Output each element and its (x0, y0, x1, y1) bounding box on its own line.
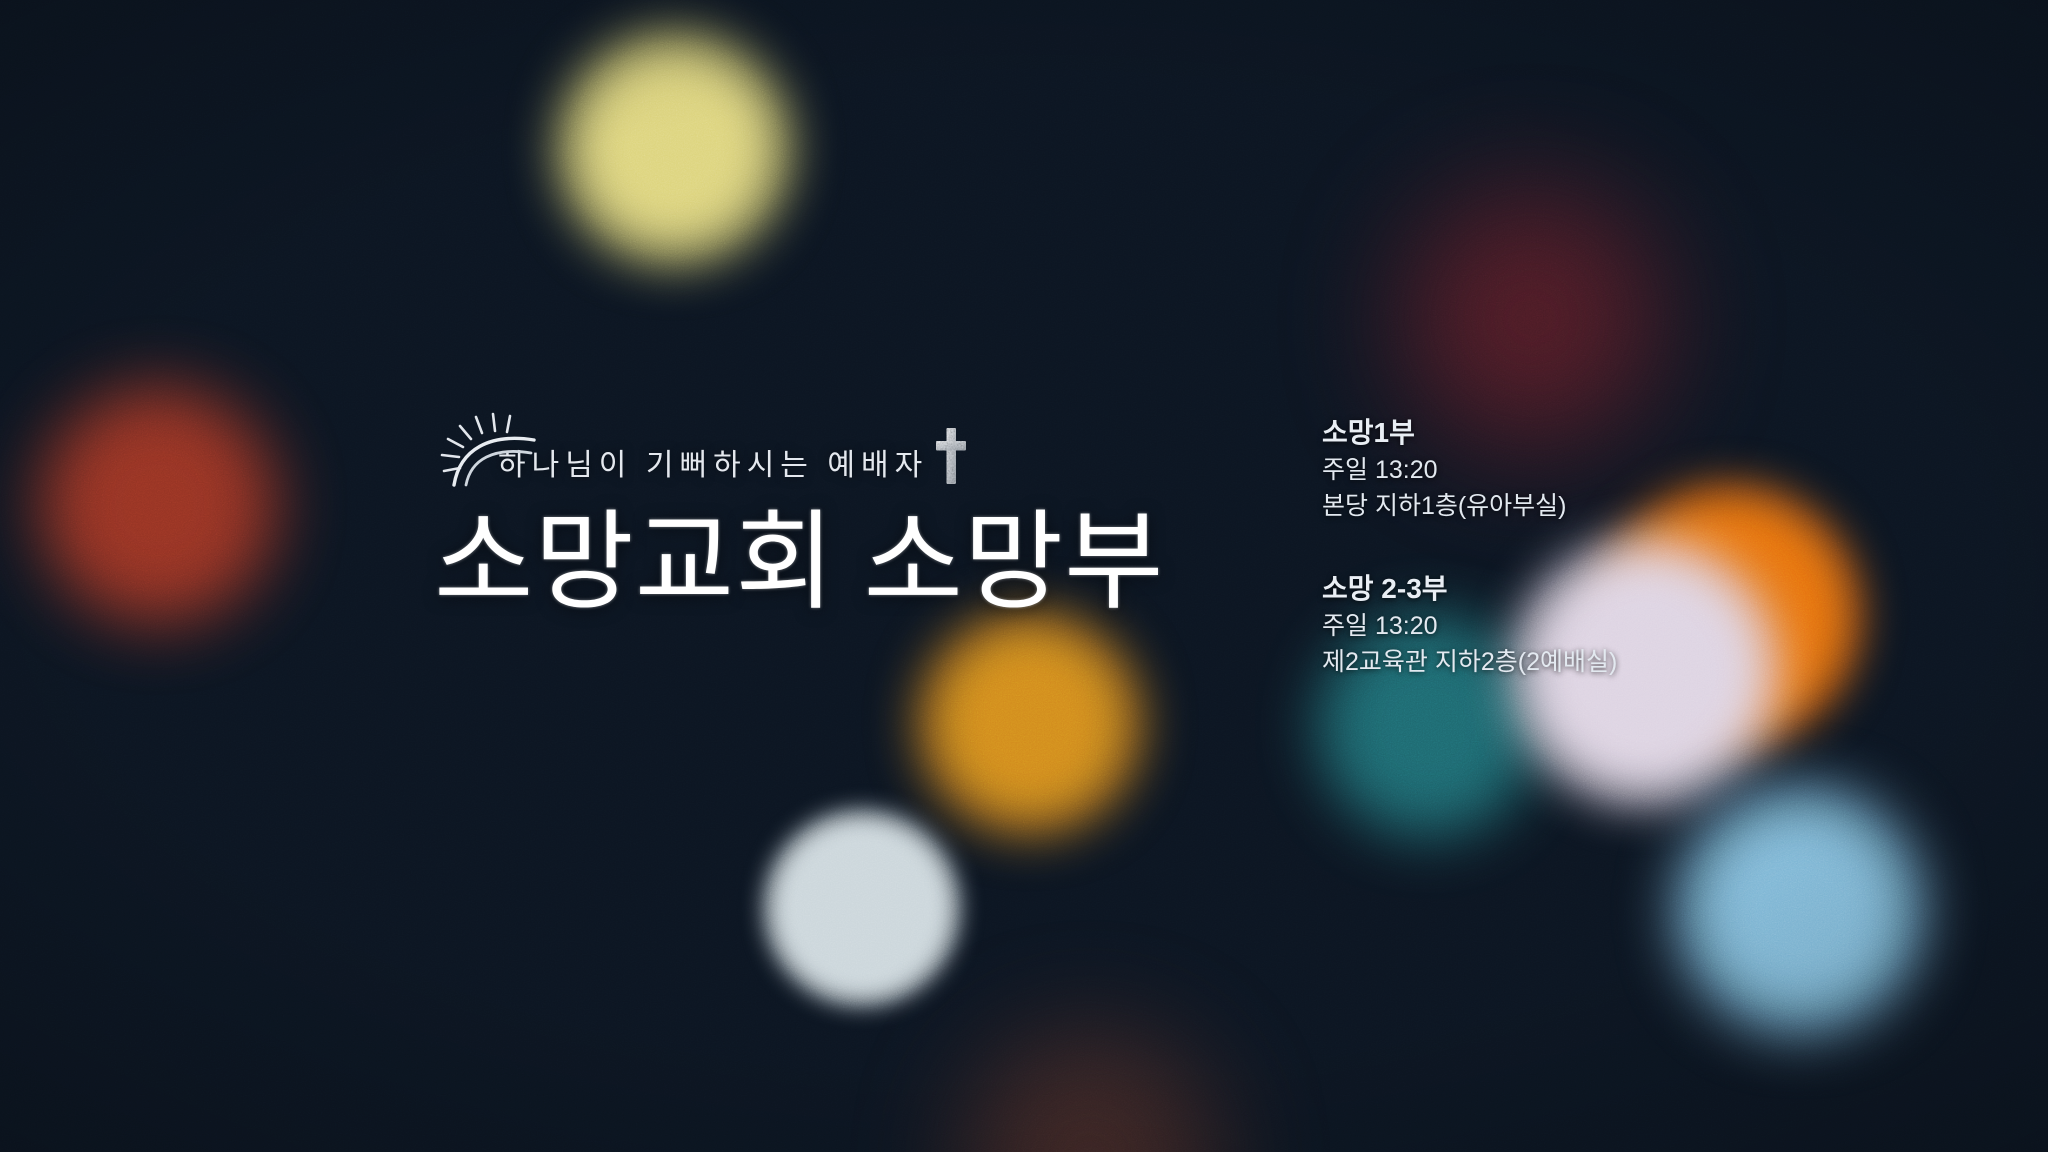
service-schedule: 소망1부 주일 13:20 본당 지하1층(유아부실) 소망 2-3부 주일 1… (1322, 415, 1742, 681)
sunrise-rays-icon (430, 409, 550, 487)
service-time: 주일 13:20 (1322, 608, 1742, 645)
service-time: 주일 13:20 (1322, 452, 1742, 489)
tagline-text: 하나님이 기뻐하시는 예배자 (498, 451, 928, 497)
church-banner-slide: 하나님이 기뻐하시는 예배자 (0, 0, 2048, 1152)
service-location: 제2교육관 지하2층(2예배실) (1322, 644, 1742, 681)
page-title: 소망교회 소망부 (430, 501, 1260, 626)
tagline-row: 하나님이 기뻐하시는 예배자 (430, 405, 1260, 497)
identity-block: 하나님이 기뻐하시는 예배자 (430, 405, 1260, 626)
slide-content: 하나님이 기뻐하시는 예배자 (0, 0, 2048, 1152)
service-name: 소망 2-3부 (1322, 571, 1742, 608)
service-name: 소망1부 (1322, 415, 1742, 452)
service-location: 본당 지하1층(유아부실) (1322, 488, 1742, 525)
cross-icon (934, 427, 968, 485)
service-block-1: 소망1부 주일 13:20 본당 지하1층(유아부실) (1322, 415, 1742, 525)
service-block-2: 소망 2-3부 주일 13:20 제2교육관 지하2층(2예배실) (1322, 571, 1742, 681)
